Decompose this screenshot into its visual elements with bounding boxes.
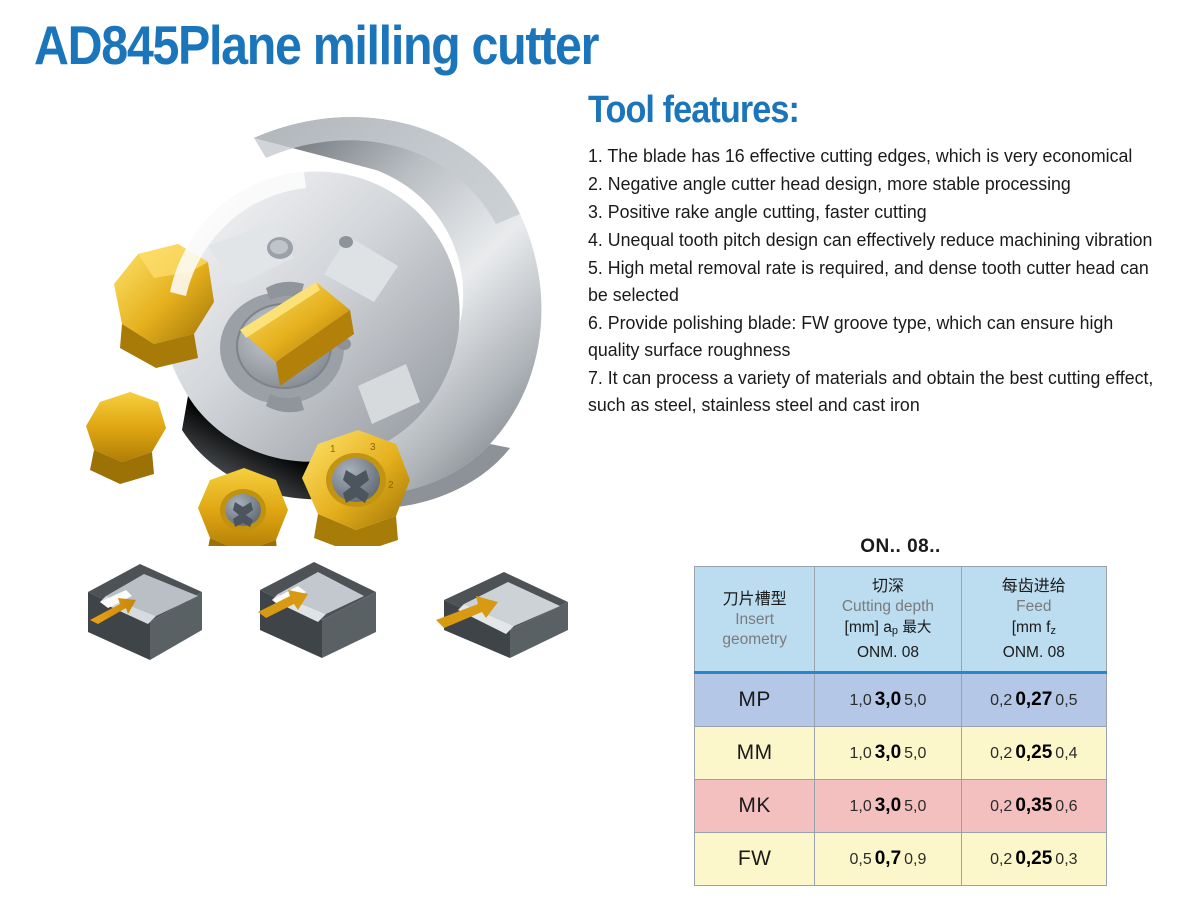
cell-feed: 0,20,250,4 (961, 727, 1106, 780)
header-unit-label: [mm] ap 最大 (815, 617, 960, 642)
face-milling-cutter-illustration: 1 3 2 (58, 96, 558, 546)
insert-octagon (86, 392, 166, 484)
unit-cn-suffix: 最大 (902, 620, 931, 636)
svg-text:1: 1 (330, 444, 336, 455)
header-cell-feed: 每齿进给 Feed [mm fz ONM. 08 (961, 567, 1106, 673)
tool-features-section: Tool features: 1. The blade has 16 effec… (588, 88, 1188, 419)
feed-max: 0,6 (1055, 798, 1077, 815)
spec-table-title: ON.. 08.. (694, 536, 1107, 558)
depth-nominal: 3,0 (875, 742, 901, 763)
cell-cutting-depth: 0,50,70,9 (815, 833, 961, 886)
feed-min: 0,2 (990, 745, 1012, 762)
depth-min: 1,0 (849, 745, 871, 762)
header-en-label-2: geometry (695, 630, 814, 650)
feed-min: 0,2 (990, 692, 1012, 709)
cell-cutting-depth: 1,03,05,0 (815, 780, 961, 833)
header-en-label: Cutting depth (815, 597, 960, 617)
feature-item: 3. Positive rake angle cutting, faster c… (588, 198, 1164, 225)
header-unit-label: [mm fz (962, 617, 1106, 642)
feed-max: 0,4 (1055, 745, 1077, 762)
cell-cutting-depth: 1,03,05,0 (815, 673, 961, 727)
depth-range: 1,03,05,0 (849, 692, 926, 709)
table-row: MM 1,03,05,0 0,20,250,4 (695, 727, 1107, 780)
insert-geometry-figure-mp (78, 552, 228, 677)
depth-max: 5,0 (904, 692, 926, 709)
depth-range: 0,50,70,9 (849, 851, 926, 868)
unit-subscript: p (892, 625, 898, 637)
feed-range: 0,20,350,6 (990, 798, 1077, 815)
product-datasheet-page: AD845Plane milling cutter (0, 0, 1200, 900)
cell-geometry: MK (695, 780, 815, 833)
geometry-label: MP (738, 688, 771, 711)
feature-item: 2. Negative angle cutter head design, mo… (588, 170, 1164, 197)
depth-max: 5,0 (904, 798, 926, 815)
header-cn-label: 每齿进给 (962, 576, 1106, 597)
depth-range: 1,03,05,0 (849, 745, 926, 762)
header-cell-insert-geometry: 刀片槽型 Insert geometry (695, 567, 815, 673)
insert-octagon-with-screw: 1 3 2 (302, 430, 410, 546)
cell-geometry: MM (695, 727, 815, 780)
depth-nominal: 0,7 (875, 848, 901, 869)
header-cell-cutting-depth: 切深 Cutting depth [mm] ap 最大 ONM. 08 (815, 567, 961, 673)
tool-features-heading: Tool features: (588, 88, 1128, 132)
geometry-label: MK (738, 794, 771, 817)
feed-min: 0,2 (990, 851, 1012, 868)
cell-geometry: FW (695, 833, 815, 886)
feed-max: 0,3 (1055, 851, 1077, 868)
feed-nominal: 0,25 (1015, 742, 1052, 763)
feed-nominal: 0,35 (1015, 795, 1052, 816)
geometry-label: FW (738, 847, 772, 870)
feed-max: 0,5 (1055, 692, 1077, 709)
insert-geometry-figure-mk (428, 558, 588, 678)
cell-geometry: MP (695, 673, 815, 727)
feed-min: 0,2 (990, 798, 1012, 815)
header-en-label: Insert (695, 610, 814, 630)
feed-nominal: 0,27 (1015, 689, 1052, 710)
table-header-row: 刀片槽型 Insert geometry 切深 Cutting depth [m… (695, 567, 1107, 673)
feature-item: 6. Provide polishing blade: FW groove ty… (588, 309, 1164, 363)
svg-text:3: 3 (370, 442, 376, 453)
depth-range: 1,03,05,0 (849, 798, 926, 815)
feature-item: 7. It can process a variety of materials… (588, 364, 1164, 418)
feed-nominal: 0,25 (1015, 848, 1052, 869)
table-row: FW 0,50,70,9 0,20,250,3 (695, 833, 1107, 886)
svg-text:2: 2 (388, 480, 394, 491)
feature-item: 5. High metal removal rate is required, … (588, 254, 1164, 308)
unit-prefix: [mm f (1012, 619, 1051, 636)
page-title: AD845Plane milling cutter (34, 14, 598, 76)
depth-nominal: 3,0 (875, 689, 901, 710)
feed-range: 0,20,250,3 (990, 851, 1077, 868)
feature-item: 4. Unequal tooth pitch design can effect… (588, 226, 1164, 253)
header-grade-label: ONM. 08 (962, 642, 1106, 663)
cell-feed: 0,20,270,5 (961, 673, 1106, 727)
unit-subscript: z (1050, 625, 1056, 637)
header-grade-label: ONM. 08 (815, 642, 960, 663)
feature-item: 1. The blade has 16 effective cutting ed… (588, 142, 1164, 169)
insert-geometry-figure-mm (248, 552, 398, 677)
depth-max: 0,9 (904, 851, 926, 868)
table-row: MP 1,03,05,0 0,20,270,5 (695, 673, 1107, 727)
depth-max: 5,0 (904, 745, 926, 762)
header-en-label: Feed (962, 597, 1106, 617)
geometry-label: MM (737, 741, 773, 764)
cell-feed: 0,20,350,6 (961, 780, 1106, 833)
depth-nominal: 3,0 (875, 795, 901, 816)
cell-cutting-depth: 1,03,05,0 (815, 727, 961, 780)
header-cn-label: 切深 (815, 576, 960, 597)
unit-prefix: [mm] a (845, 619, 892, 636)
header-cn-label: 刀片槽型 (695, 589, 814, 610)
depth-min: 0,5 (849, 851, 871, 868)
depth-min: 1,0 (849, 692, 871, 709)
cutting-data-table: 刀片槽型 Insert geometry 切深 Cutting depth [m… (694, 566, 1107, 886)
cell-feed: 0,20,250,3 (961, 833, 1106, 886)
feed-range: 0,20,270,5 (990, 692, 1077, 709)
feed-range: 0,20,250,4 (990, 745, 1077, 762)
insert-octagon-with-screw (198, 468, 288, 546)
depth-min: 1,0 (849, 798, 871, 815)
table-row: MK 1,03,05,0 0,20,350,6 (695, 780, 1107, 833)
